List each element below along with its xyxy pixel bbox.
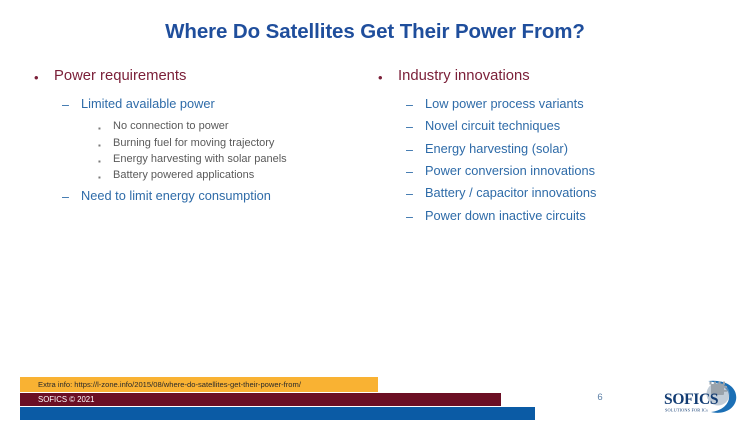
bullet-square-icon: ▪ [98, 169, 113, 182]
left-heading-bullet: • Power requirements [34, 68, 382, 86]
list-item-label: Battery / capacitor innovations [425, 186, 718, 201]
left-content-column: • Power requirements – Limited available… [34, 68, 382, 208]
left-heading-label: Power requirements [54, 68, 382, 85]
list-item-label: Low power process variants [425, 97, 718, 112]
bullet-square-icon: ▪ [98, 153, 113, 166]
list-item: ▪ No connection to power [34, 120, 382, 133]
page-title: Where Do Satellites Get Their Power From… [0, 20, 750, 44]
list-item: ▪ Battery powered applications [34, 169, 382, 182]
left-sub1-bullet: – Limited available power [34, 97, 382, 112]
bullet-dash-icon: – [406, 186, 425, 201]
list-item-label: Battery powered applications [113, 169, 382, 182]
list-item: ▪ Burning fuel for moving trajectory [34, 137, 382, 150]
bullet-dot-icon: • [378, 68, 398, 86]
list-item: – Novel circuit techniques [378, 119, 718, 134]
list-item-label: Novel circuit techniques [425, 119, 718, 134]
logo-wordmark: SOFICS [664, 391, 718, 408]
list-item-label: Power down inactive circuits [425, 209, 718, 224]
list-item: – Energy harvesting (solar) [378, 142, 718, 157]
list-item: – Power down inactive circuits [378, 209, 718, 224]
left-sub2-bullet: – Need to limit energy consumption [34, 189, 382, 204]
bullet-dash-icon: – [62, 189, 81, 204]
copyright-label: SOFICS © 2021 [38, 395, 94, 404]
bullet-square-icon: ▪ [98, 137, 113, 150]
sofics-logo: SOFICS SOLUTIONS FOR ICs [662, 378, 740, 416]
bullet-dash-icon: – [406, 209, 425, 224]
list-item: – Power conversion innovations [378, 164, 718, 179]
left-sub1-label: Limited available power [81, 97, 382, 112]
list-item: ▪ Energy harvesting with solar panels [34, 153, 382, 166]
logo-tagline: SOLUTIONS FOR ICs [665, 408, 708, 413]
list-item: – Low power process variants [378, 97, 718, 112]
bullet-square-icon: ▪ [98, 120, 113, 133]
right-heading-label: Industry innovations [398, 68, 718, 85]
bullet-dash-icon: – [406, 119, 425, 134]
left-sub2-label: Need to limit energy consumption [81, 189, 382, 204]
right-heading-bullet: • Industry innovations [378, 68, 718, 86]
bullet-dot-icon: • [34, 68, 54, 86]
extra-info-link[interactable]: Extra info: https://l-zone.info/2015/08/… [38, 380, 301, 389]
bullet-dash-icon: – [406, 97, 425, 112]
right-content-column: • Industry innovations – Low power proce… [378, 68, 718, 228]
list-item-label: Energy harvesting (solar) [425, 142, 718, 157]
slide-body: • Power requirements – Limited available… [0, 68, 750, 368]
bullet-dash-icon: – [406, 164, 425, 179]
bullet-dash-icon: – [406, 142, 425, 157]
bullet-dash-icon: – [62, 97, 81, 112]
footer-bar-blue [20, 407, 535, 420]
list-item-label: Energy harvesting with solar panels [113, 153, 382, 166]
page-number: 6 [578, 392, 622, 403]
list-item-label: Power conversion innovations [425, 164, 718, 179]
list-item-label: Burning fuel for moving trajectory [113, 137, 382, 150]
list-item: – Battery / capacitor innovations [378, 186, 718, 201]
list-item-label: No connection to power [113, 120, 382, 133]
